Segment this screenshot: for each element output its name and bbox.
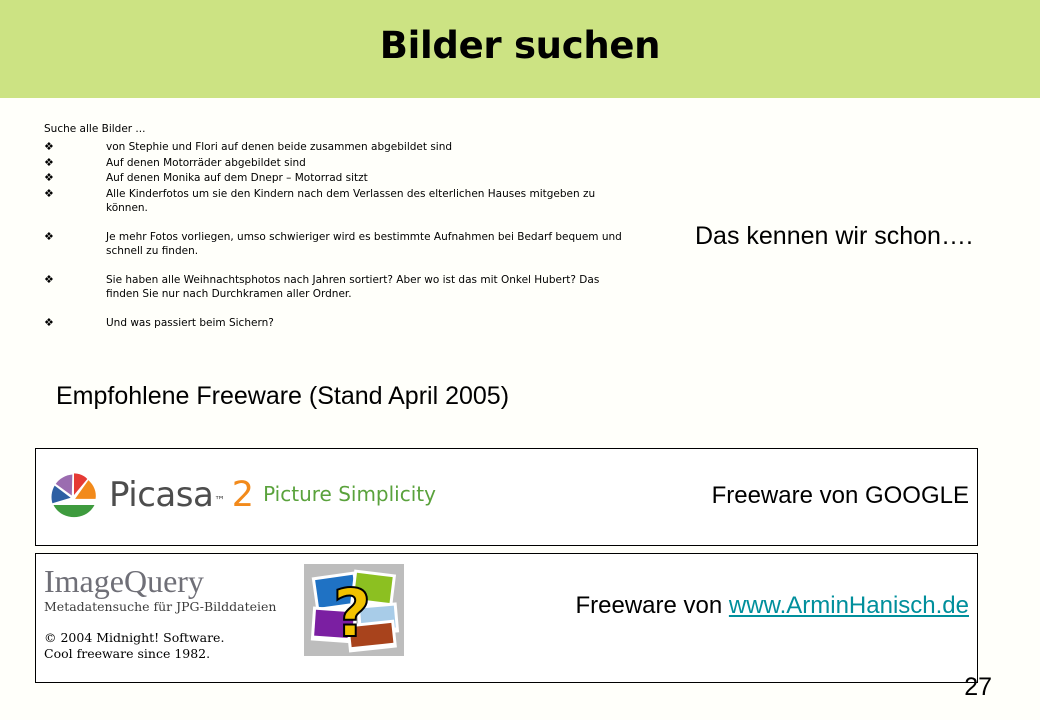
diamond-bullet-icon: ❖ bbox=[44, 316, 106, 331]
list-item: ❖ Sie haben alle Weihnachtsphotos nach J… bbox=[44, 273, 624, 302]
bullet-content-block: Suche alle Bilder ... ❖ von Stephie und … bbox=[44, 122, 624, 331]
picasa-tagline: Picture Simplicity bbox=[263, 482, 436, 508]
freeware-source-hanisch: Freeware von www.ArminHanisch.de bbox=[576, 592, 970, 620]
bullet-lead-text: Suche alle Bilder ... bbox=[44, 122, 624, 137]
imagequery-copyright: © 2004 Midnight! Software. Cool freeware… bbox=[44, 630, 276, 662]
picasa-version-label: 2 bbox=[232, 475, 254, 515]
aside-known-note: Das kennen wir schon…. bbox=[695, 222, 973, 251]
freeware-prefix-label: Freeware von bbox=[576, 592, 729, 619]
list-item-label: Auf denen Monika auf dem Dnepr – Motorra… bbox=[106, 171, 624, 186]
list-item-label: von Stephie und Flori auf denen beide zu… bbox=[106, 140, 624, 155]
page-number: 27 bbox=[964, 673, 992, 702]
picasa-aperture-icon bbox=[46, 469, 102, 521]
freeware-source-google: Freeware von GOOGLE bbox=[712, 482, 969, 510]
product-box-imagequery: ImageQuery Metadatensuche für JPG-Bildda… bbox=[35, 553, 978, 683]
list-item: ❖ Auf denen Monika auf dem Dnepr – Motor… bbox=[44, 171, 624, 186]
diamond-bullet-icon: ❖ bbox=[44, 171, 106, 186]
imagequery-copyright-line2: Cool freeware since 1982. bbox=[44, 646, 276, 662]
diamond-bullet-icon: ❖ bbox=[44, 273, 106, 288]
list-item-label: Und was passiert beim Sichern? bbox=[106, 316, 624, 331]
diamond-bullet-icon: ❖ bbox=[44, 140, 106, 155]
trademark-icon: ™ bbox=[214, 494, 225, 507]
picasa-wordmark-text: Picasa bbox=[109, 475, 213, 515]
imagequery-wordmark: ImageQuery bbox=[44, 564, 276, 598]
svg-text:?: ? bbox=[333, 575, 371, 652]
list-item: ❖ Auf denen Motorräder abgebildet sind bbox=[44, 156, 624, 171]
diamond-bullet-icon: ❖ bbox=[44, 156, 106, 171]
list-item: ❖ Alle Kinderfotos um sie den Kindern na… bbox=[44, 187, 624, 216]
picasa-wordmark: Picasa™ bbox=[109, 475, 225, 515]
imagequery-subtitle: Metadatensuche für JPG-Bilddateien bbox=[44, 599, 276, 614]
imagequery-copyright-line1: © 2004 Midnight! Software. bbox=[44, 630, 276, 646]
imagequery-text-block: ImageQuery Metadatensuche für JPG-Bildda… bbox=[44, 564, 276, 662]
list-item-label: Sie haben alle Weihnachtsphotos nach Jah… bbox=[106, 273, 624, 302]
list-item: ❖ Und was passiert beim Sichern? bbox=[44, 316, 624, 331]
hanisch-website-link[interactable]: www.ArminHanisch.de bbox=[729, 592, 969, 619]
photo-stack-question-icon: ? bbox=[304, 564, 404, 656]
list-item: ❖ Je mehr Fotos vorliegen, umso schwieri… bbox=[44, 230, 624, 259]
list-item-label: Je mehr Fotos vorliegen, umso schwierige… bbox=[106, 230, 624, 259]
page-title: Bilder suchen bbox=[0, 24, 1040, 67]
product-box-picasa: Picasa™ 2 Picture Simplicity Freeware vo… bbox=[35, 448, 978, 546]
list-item-label: Alle Kinderfotos um sie den Kindern nach… bbox=[106, 187, 624, 216]
list-item: ❖ von Stephie und Flori auf denen beide … bbox=[44, 140, 624, 155]
diamond-bullet-icon: ❖ bbox=[44, 230, 106, 245]
section-heading: Empfohlene Freeware (Stand April 2005) bbox=[56, 382, 509, 411]
picasa-logo: Picasa™ 2 Picture Simplicity bbox=[46, 469, 436, 521]
diamond-bullet-icon: ❖ bbox=[44, 187, 106, 202]
list-item-label: Auf denen Motorräder abgebildet sind bbox=[106, 156, 624, 171]
